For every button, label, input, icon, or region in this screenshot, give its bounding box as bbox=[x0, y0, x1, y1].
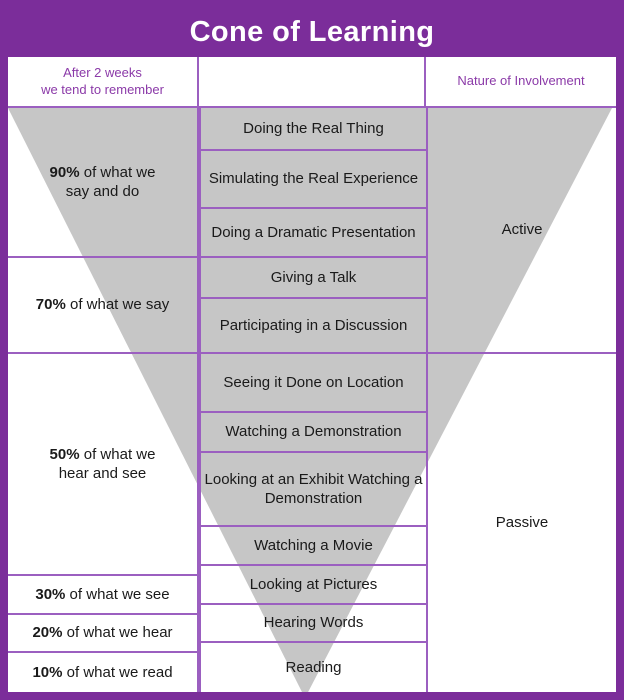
involvement-label-passive: Passive bbox=[496, 513, 549, 533]
retention-group-70: 70% of what we say bbox=[8, 258, 197, 354]
activity-row-11: Hearing Words bbox=[199, 605, 426, 643]
activity-row-4: Giving a Talk bbox=[199, 258, 426, 299]
cone-of-learning-diagram: Cone of Learning After 2 weeks we tend t… bbox=[0, 0, 624, 700]
activity-row-12: Reading bbox=[199, 643, 426, 692]
involvement-label-active: Active bbox=[502, 220, 543, 240]
retention-label-30: 30% of what we see bbox=[35, 585, 169, 605]
activity-label-10: Looking at Pictures bbox=[250, 575, 378, 595]
involvement-group-passive: Passive bbox=[428, 354, 616, 692]
activity-row-7: Watching a Demonstration bbox=[199, 413, 426, 453]
activity-row-10: Looking at Pictures bbox=[199, 566, 426, 605]
retention-group-30: 30% of what we see bbox=[8, 576, 197, 615]
activity-label-11: Hearing Words bbox=[264, 613, 364, 633]
retention-column: 90% of what we say and do 70% of what we… bbox=[8, 108, 199, 692]
column-header-activity bbox=[199, 57, 426, 106]
activity-label-2: Simulating the Real Experience bbox=[209, 169, 418, 189]
retention-label-90-line1: 90% of what we bbox=[50, 163, 156, 183]
activity-label-7: Watching a Demonstration bbox=[225, 422, 401, 442]
activity-row-2: Simulating the Real Experience bbox=[199, 151, 426, 209]
involvement-column: Active Passive bbox=[428, 108, 616, 692]
activity-row-1: Doing the Real Thing bbox=[199, 108, 426, 151]
activity-label-9: Watching a Movie bbox=[254, 536, 373, 556]
activity-label-6: Seeing it Done on Location bbox=[223, 373, 403, 393]
retention-group-10: 10% of what we read bbox=[8, 653, 197, 692]
activity-label-3: Doing a Dramatic Presentation bbox=[211, 223, 415, 243]
column-header-retention: After 2 weeks we tend to remember bbox=[8, 57, 199, 106]
retention-group-90: 90% of what we say and do bbox=[8, 108, 197, 258]
retention-group-50: 50% of what we hear and see bbox=[8, 354, 197, 576]
retention-label-90-line2: say and do bbox=[50, 182, 156, 202]
activity-row-6: Seeing it Done on Location bbox=[199, 354, 426, 413]
activity-column: Doing the Real Thing Simulating the Real… bbox=[199, 108, 428, 692]
activity-label-12: Reading bbox=[286, 658, 342, 678]
activity-row-3: Doing a Dramatic Presentation bbox=[199, 209, 426, 258]
retention-label-50-line1: 50% of what we bbox=[50, 445, 156, 465]
retention-group-20: 20% of what we hear bbox=[8, 615, 197, 653]
retention-header-line2: we tend to remember bbox=[41, 82, 164, 98]
activity-label-8: Looking at an Exhibit Watching a Demonst… bbox=[201, 470, 426, 509]
column-header-row: After 2 weeks we tend to remember Nature… bbox=[8, 57, 616, 108]
retention-header-line1: After 2 weeks bbox=[41, 65, 164, 81]
page-title: Cone of Learning bbox=[190, 18, 435, 47]
column-header-involvement: Nature of Involvement bbox=[426, 57, 616, 106]
activity-row-9: Watching a Movie bbox=[199, 527, 426, 566]
involvement-group-active: Active bbox=[428, 108, 616, 354]
retention-label-70-line1: 70% of what we say bbox=[36, 295, 169, 315]
activity-label-5: Participating in a Discussion bbox=[220, 316, 408, 336]
retention-label-10: 10% of what we read bbox=[32, 663, 172, 683]
retention-label-20: 20% of what we hear bbox=[32, 623, 172, 643]
activity-label-1: Doing the Real Thing bbox=[243, 119, 384, 139]
title-bar: Cone of Learning bbox=[8, 8, 616, 57]
activity-row-8: Looking at an Exhibit Watching a Demonst… bbox=[199, 453, 426, 527]
activity-label-4: Giving a Talk bbox=[271, 268, 357, 288]
retention-label-50-line2: hear and see bbox=[50, 464, 156, 484]
activity-row-5: Participating in a Discussion bbox=[199, 299, 426, 354]
